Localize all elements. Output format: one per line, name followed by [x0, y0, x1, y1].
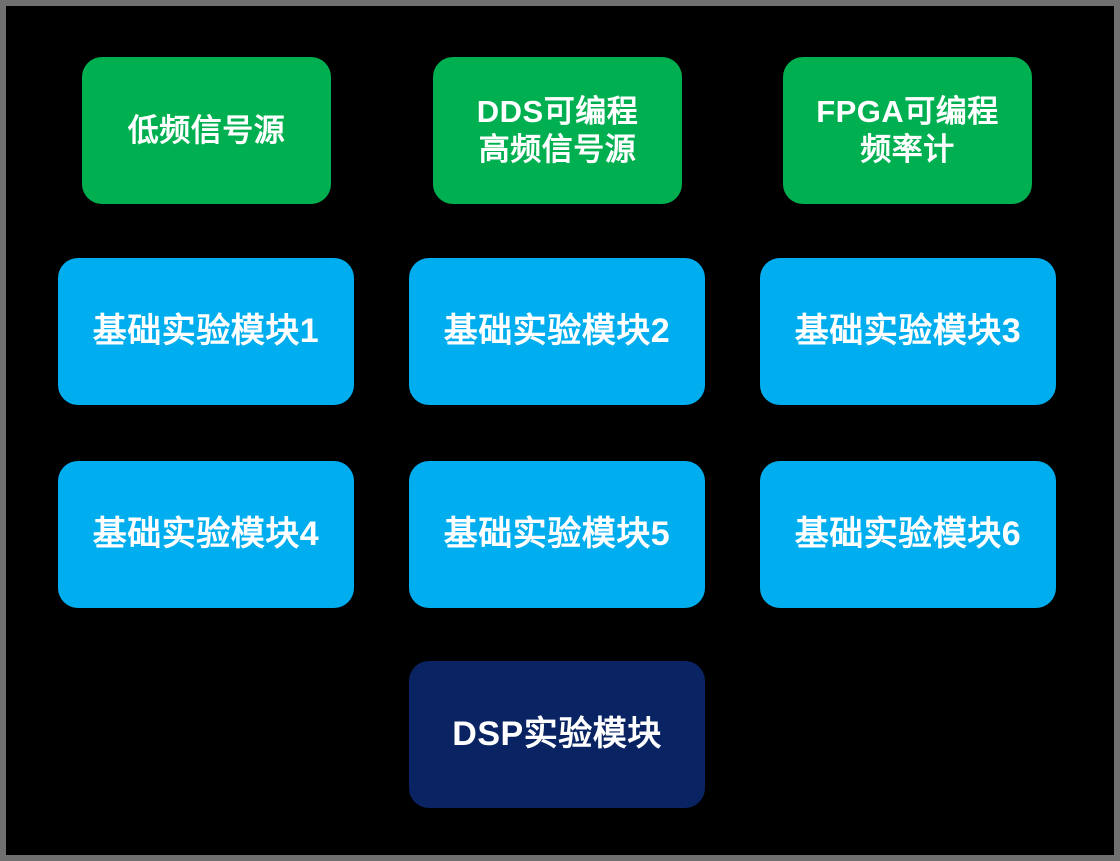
block-basic-module-4[interactable]: 基础实验模块4 — [58, 461, 354, 608]
block-low-frequency-signal-source[interactable]: 低频信号源 — [82, 57, 331, 204]
block-dds-programmable-high-frequency-signal-source[interactable]: DDS可编程 高频信号源 — [433, 57, 682, 204]
block-fpga-programmable-frequency-counter[interactable]: FPGA可编程 频率计 — [783, 57, 1032, 204]
diagram-canvas: 低频信号源 DDS可编程 高频信号源 FPGA可编程 频率计 基础实验模块1 基… — [0, 0, 1120, 861]
block-dsp-experiment-module[interactable]: DSP实验模块 — [409, 661, 705, 808]
block-basic-module-1[interactable]: 基础实验模块1 — [58, 258, 354, 405]
block-basic-module-2[interactable]: 基础实验模块2 — [409, 258, 705, 405]
block-basic-module-3[interactable]: 基础实验模块3 — [760, 258, 1056, 405]
block-basic-module-6[interactable]: 基础实验模块6 — [760, 461, 1056, 608]
block-basic-module-5[interactable]: 基础实验模块5 — [409, 461, 705, 608]
